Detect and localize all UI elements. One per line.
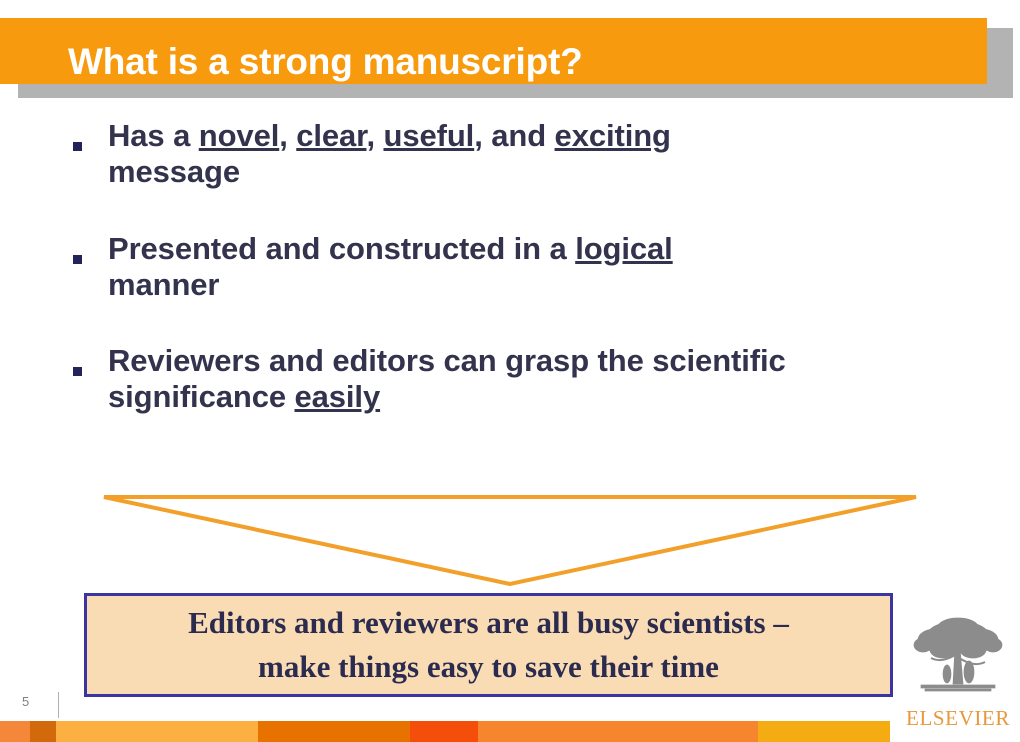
footer-color-band: [0, 721, 890, 742]
list-item: Has a novel, clear, useful, and exciting…: [70, 118, 900, 191]
down-arrow-triangle-icon: [100, 485, 920, 590]
slide-canvas: What is a strong manuscript? Has a novel…: [0, 0, 1020, 742]
list-item: Reviewers and editors can grasp the scie…: [70, 343, 900, 416]
footer-band-segment: [478, 721, 758, 742]
title-bar: What is a strong manuscript?: [0, 18, 987, 84]
square-bullet-icon: [73, 255, 82, 264]
bullet-list: Has a novel, clear, useful, and exciting…: [70, 118, 900, 442]
footer-band-segment: [758, 721, 890, 742]
callout-text: Editors and reviewers are all busy scien…: [178, 601, 799, 689]
bullet-text-3: Reviewers and editors can grasp the scie…: [108, 343, 900, 416]
list-item: Presented and constructed in a logicalma…: [70, 231, 900, 304]
elsevier-logo: ELSEVIER: [903, 612, 1013, 734]
footer-band-segment: [0, 721, 30, 742]
elsevier-wordmark: ELSEVIER: [903, 706, 1013, 731]
page-title: What is a strong manuscript?: [68, 43, 583, 80]
bullet-text-2: Presented and constructed in a logicalma…: [108, 231, 900, 304]
footer-band-segment: [56, 721, 258, 742]
footer-band-segment: [410, 721, 478, 742]
footer-divider: [58, 692, 59, 718]
footer-band-segment: [30, 721, 56, 742]
bullet-text-1: Has a novel, clear, useful, and exciting…: [108, 118, 900, 191]
square-bullet-icon: [73, 142, 82, 151]
page-number: 5: [22, 694, 29, 709]
elsevier-tree-icon: [903, 612, 1013, 704]
footer-band-segment: [258, 721, 410, 742]
callout-box: Editors and reviewers are all busy scien…: [84, 593, 893, 697]
square-bullet-icon: [73, 367, 82, 376]
